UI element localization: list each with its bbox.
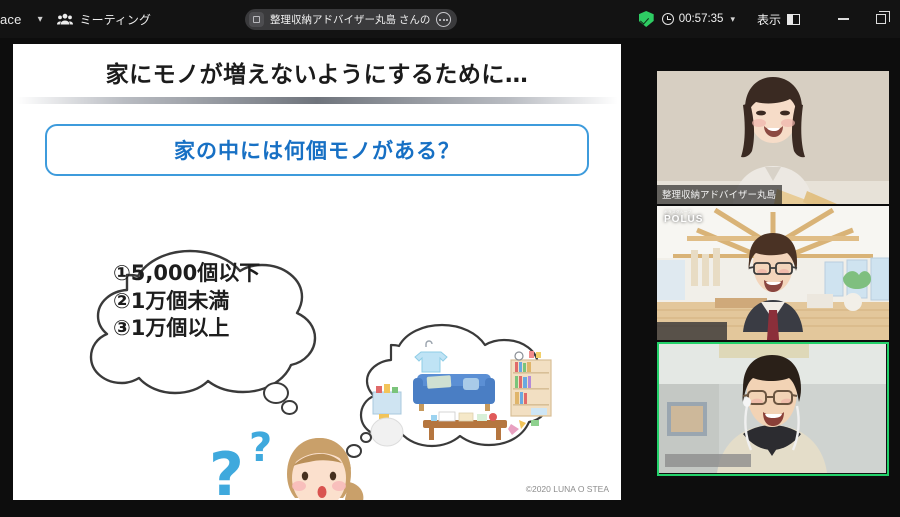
thinking-person-icon	[265, 430, 373, 500]
slide-title: 家にモノが増えないようにするために…	[13, 55, 621, 89]
answer-option-2: ②1万個未満	[113, 288, 260, 316]
participant-tile[interactable]: 整理収納アドバイザー丸島	[657, 71, 889, 204]
minimize-button[interactable]	[824, 0, 862, 38]
restore-button[interactable]	[862, 0, 900, 38]
shield-check-icon[interactable]	[639, 11, 654, 27]
copyright-text: ©2020 LUNA O STEA	[526, 484, 609, 494]
layout-icon	[787, 14, 800, 25]
meeting-tab[interactable]: ミーティング	[57, 11, 151, 28]
answer-options: ①5,000個以下 ②1万個未満 ③1万個以上	[113, 260, 260, 343]
window-controls	[824, 0, 900, 38]
more-options-icon[interactable]	[436, 12, 451, 27]
meeting-timer[interactable]: 00:57:35 ▾	[662, 13, 735, 25]
participant-name-label: 整理収納アドバイザー丸島	[657, 185, 782, 204]
participant-video	[657, 206, 889, 340]
titlebar-right-group: 00:57:35 ▾ 表示	[639, 0, 900, 38]
window-titlebar: ace ▾ ミーティング 整理収納アドバイザー丸島 さんの	[0, 0, 900, 38]
app-name-label: ace	[0, 12, 22, 27]
app-icon	[249, 12, 264, 27]
toy-box-illustration	[373, 384, 401, 419]
chevron-down-icon[interactable]: ▾	[730, 14, 735, 25]
participant-video	[659, 344, 886, 473]
shared-screen-slide[interactable]: 家にモノが増えないようにするために… 家の中には何個モノがある？	[13, 44, 621, 500]
thought-bubble-small	[281, 400, 298, 415]
polus-watermark: ポラスグループ POLUS	[664, 211, 703, 225]
participant-tile[interactable]: ポラスグループ POLUS	[657, 206, 889, 340]
participants-panel: 整理収納アドバイザー丸島	[644, 38, 900, 517]
question-box-text: 家の中には何個モノがある？	[174, 135, 460, 165]
panel-divider[interactable]	[622, 38, 644, 517]
titlebar-left-group: ace ▾ ミーティング	[0, 11, 151, 28]
participant-tile-active-speaker[interactable]	[657, 342, 889, 476]
question-box: 家の中には何個モノがある？	[45, 124, 589, 176]
question-mark-large: ?	[209, 440, 244, 500]
shared-content-pill[interactable]: 整理収納アドバイザー丸島 さんの	[245, 9, 457, 30]
meeting-tab-label: ミーティング	[80, 11, 151, 28]
answer-option-1: ①5,000個以下	[113, 260, 260, 288]
shared-content-title: 整理収納アドバイザー丸島 さんの	[270, 12, 430, 27]
clock-icon	[662, 13, 674, 25]
polus-watermark-text: POLUS	[664, 214, 703, 225]
thought-bubble-room-icon	[343, 316, 593, 466]
timer-value: 00:57:35	[679, 13, 724, 25]
people-icon	[57, 13, 73, 25]
chevron-down-icon[interactable]: ▾	[22, 14, 57, 25]
title-divider	[16, 97, 618, 104]
view-label: 表示	[757, 11, 781, 28]
meeting-window: ace ▾ ミーティング 整理収納アドバイザー丸島 さんの	[0, 0, 900, 517]
cushion-illustration	[371, 418, 403, 446]
view-button[interactable]: 表示	[757, 11, 800, 28]
bookshelf-illustration	[511, 351, 551, 416]
answer-option-3: ③1万個以上	[113, 315, 260, 343]
